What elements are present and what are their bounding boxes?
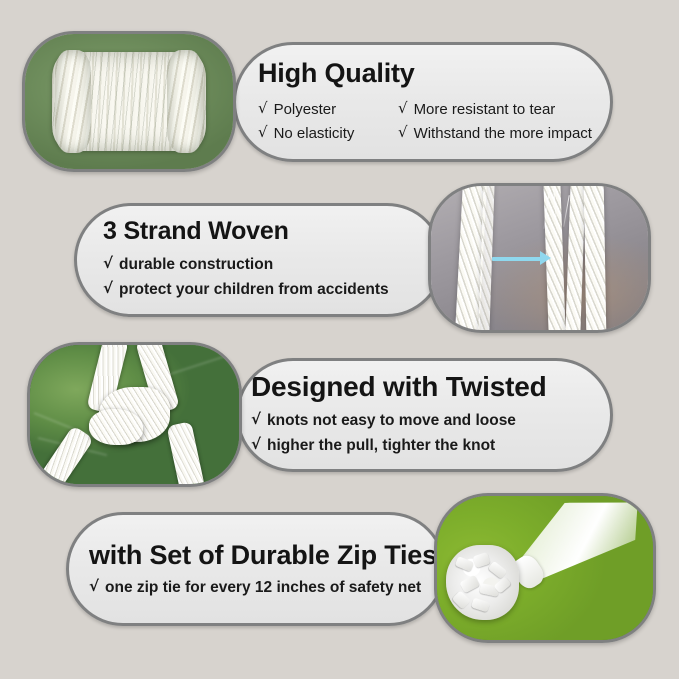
feature-title-high-quality: High Quality [258,59,594,87]
product-feature-infographic: High Quality √ Polyester √ More resistan… [0,0,679,679]
bullet-label: No elasticity [274,125,355,142]
bullet-label: higher the pull, tighter the knot [267,437,495,455]
check-icon: √ [258,99,268,117]
bullet-row: √ higher the pull, tighter the knot [251,436,596,455]
check-icon: √ [103,279,113,297]
feature-panel-3-strand-woven: 3 Strand Woven √ durable construction √ … [74,203,444,317]
bullet-row: √ Polyester √ More resistant to tear [258,100,594,118]
bullet-item: √ knots not easy to move and loose [251,411,516,430]
feature-bullets-high-quality: √ Polyester √ More resistant to tear √ N… [258,97,594,145]
check-icon: √ [251,410,261,428]
rope-strand [584,183,606,333]
arrow-icon [540,251,551,265]
rope-coil-photo [22,31,236,172]
bullet-item: √ higher the pull, tighter the knot [251,436,495,455]
bullet-item: √ Polyester [258,100,398,118]
bullet-label: protect your children from accidents [119,281,389,299]
knot-on-leaves-photo [27,342,242,487]
bullet-item: √ durable construction [103,255,273,274]
bullet-item: √ Withstand the more impact [398,124,592,142]
arrow-icon [492,257,542,261]
feature-panel-designed-with-twisted: Designed with Twisted √ knots not easy t… [236,358,613,472]
rope-strands-photo [428,183,651,333]
bullet-row: √ No elasticity √ Withstand the more imp… [258,124,594,142]
photo-background [431,186,648,330]
knot-core [89,409,143,445]
bullet-row: √ knots not easy to move and loose [251,411,596,430]
check-icon: √ [251,435,261,453]
photo-background [25,34,233,169]
bullet-label: knots not easy to move and loose [267,412,516,430]
bullet-label: Withstand the more impact [414,125,592,142]
zip-ties-photo [434,493,656,643]
knot-arm [167,421,207,487]
rope-coil-shape [52,52,206,152]
photo-background [30,345,239,484]
feature-title-3-strand-woven: 3 Strand Woven [103,218,427,244]
bullet-label: one zip tie for every 12 inches of safet… [105,579,421,597]
photo-background [437,496,653,640]
feature-panel-durable-zip-ties: with Set of Durable Zip Ties √ one zip t… [66,512,446,626]
bullet-label: durable construction [119,256,273,274]
bullet-label: More resistant to tear [414,101,556,118]
bullet-row: √ protect your children from accidents [103,280,427,299]
check-icon: √ [258,123,268,141]
feature-bullets-durable-zip-ties: √ one zip tie for every 12 inches of saf… [89,578,429,597]
bullet-item: √ More resistant to tear [398,100,555,118]
bullet-item: √ protect your children from accidents [103,280,389,299]
rope-strand [565,183,586,333]
feature-title-durable-zip-ties: with Set of Durable Zip Ties [89,541,429,569]
check-icon: √ [89,577,99,595]
bullet-item: √ one zip tie for every 12 inches of saf… [89,578,421,597]
feature-bullets-3-strand-woven: √ durable construction √ protect your ch… [103,252,427,302]
bullet-label: Polyester [274,101,337,118]
knot-arm [33,425,94,487]
feature-panel-high-quality: High Quality √ Polyester √ More resistan… [233,42,613,162]
bullet-row: √ one zip tie for every 12 inches of saf… [89,578,429,597]
feature-bullets-designed-with-twisted: √ knots not easy to move and loose √ hig… [251,408,596,458]
bullet-item: √ No elasticity [258,124,398,142]
check-icon: √ [103,254,113,272]
check-icon: √ [398,123,408,141]
feature-title-designed-with-twisted: Designed with Twisted [251,372,596,401]
check-icon: √ [398,99,408,117]
bullet-row: √ durable construction [103,255,427,274]
